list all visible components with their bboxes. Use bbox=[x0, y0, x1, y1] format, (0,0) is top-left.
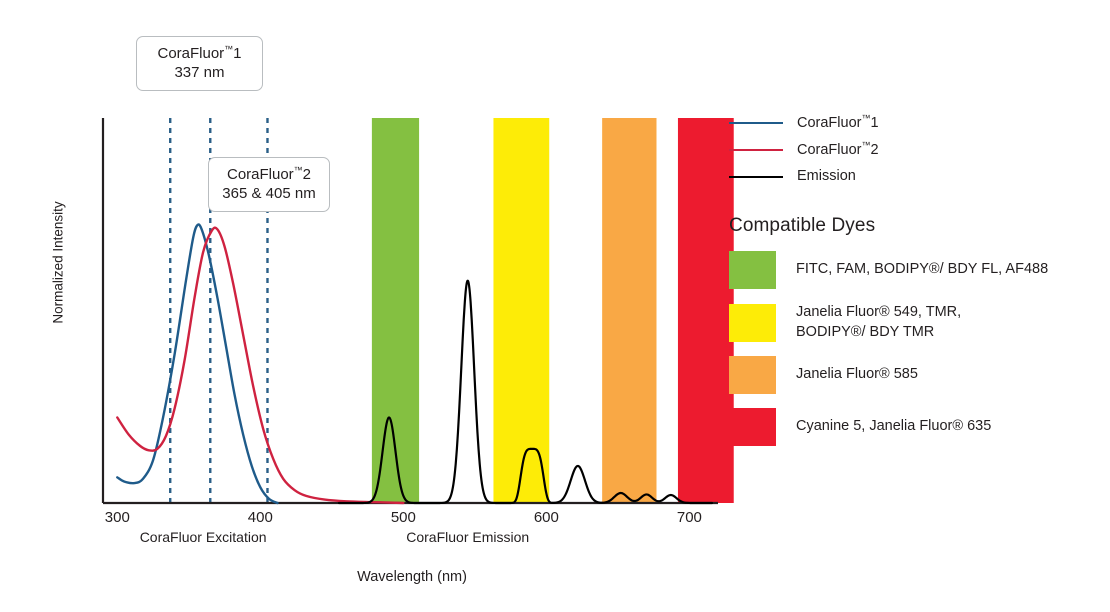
callout-corafluor1-line1: CoraFluor™1 bbox=[149, 44, 250, 63]
dye-row-4: Cyanine 5, Janelia Fluor® 635 bbox=[729, 408, 1099, 446]
trademark-symbol: ™ bbox=[861, 140, 870, 150]
dye-color-swatch bbox=[729, 408, 776, 446]
legend-item-label: CoraFluor™1 bbox=[797, 113, 879, 131]
callout-corafluor1-line2: 337 nm bbox=[149, 63, 250, 82]
y-axis-title: Normalized Intensity bbox=[51, 163, 66, 363]
axis-section-label-1: CoraFluor Excitation bbox=[140, 529, 267, 545]
x-tick-600: 600 bbox=[534, 509, 559, 526]
series-legend: CoraFluor™1CoraFluor™2Emission bbox=[729, 108, 1099, 189]
compatible-dyes-heading: Compatible Dyes bbox=[729, 215, 1099, 237]
orange-band bbox=[602, 118, 656, 503]
callout-corafluor2: CoraFluor™2 365 & 405 nm bbox=[208, 157, 330, 212]
x-tick-300: 300 bbox=[105, 509, 130, 526]
x-tick-500: 500 bbox=[391, 509, 416, 526]
dye-label: FITC, FAM, BODIPY®/ BDY FL, AF488 bbox=[796, 260, 1048, 280]
legend-item-2[interactable]: CoraFluor™2 bbox=[729, 135, 1099, 162]
dye-label: Cyanine 5, Janelia Fluor® 635 bbox=[796, 417, 991, 437]
x-tick-700: 700 bbox=[677, 509, 702, 526]
legend-item-label: CoraFluor™2 bbox=[797, 140, 879, 158]
axis-section-label-2: CoraFluor Emission bbox=[406, 529, 529, 545]
dye-label-line: BODIPY®/ BDY TMR bbox=[796, 323, 961, 343]
x-axis-title: Wavelength (nm) bbox=[357, 569, 467, 585]
callout-corafluor2-line2: 365 & 405 nm bbox=[221, 184, 317, 203]
compatible-dyes-list: FITC, FAM, BODIPY®/ BDY FL, AF488Janelia… bbox=[729, 251, 1099, 446]
dye-label-line: FITC, FAM, BODIPY®/ BDY FL, AF488 bbox=[796, 260, 1048, 280]
legend-item-label: Emission bbox=[797, 168, 856, 184]
dye-color-swatch bbox=[729, 356, 776, 394]
dye-label: Janelia Fluor® 549, TMR,BODIPY®/ BDY TMR bbox=[796, 303, 961, 342]
dye-color-swatch bbox=[729, 304, 776, 342]
dye-color-swatch bbox=[729, 251, 776, 289]
axis-section-labels-group: CoraFluor ExcitationCoraFluor Emission bbox=[140, 529, 529, 545]
x-tick-labels-group: 300400500600700 bbox=[105, 509, 702, 526]
wavelength-bands-group bbox=[372, 118, 734, 503]
chart-figure: 300400500600700 CoraFluor ExcitationCora… bbox=[0, 0, 1110, 612]
curve-corafluor1 bbox=[117, 224, 277, 503]
yellow-band bbox=[493, 118, 549, 503]
dye-row-2: Janelia Fluor® 549, TMR,BODIPY®/ BDY TMR bbox=[729, 303, 1099, 342]
legend-item-3[interactable]: Emission bbox=[729, 162, 1099, 189]
x-tick-400: 400 bbox=[248, 509, 273, 526]
legend-item-1[interactable]: CoraFluor™1 bbox=[729, 108, 1099, 135]
dye-label-line: Janelia Fluor® 549, TMR, bbox=[796, 303, 961, 323]
right-panel: CoraFluor™1CoraFluor™2Emission Compatibl… bbox=[729, 108, 1099, 446]
dye-label: Janelia Fluor® 585 bbox=[796, 365, 918, 385]
dye-label-line: Janelia Fluor® 585 bbox=[796, 365, 918, 385]
curve-corafluor2 bbox=[117, 228, 403, 503]
trademark-symbol: ™ bbox=[294, 165, 303, 175]
dye-row-3: Janelia Fluor® 585 bbox=[729, 356, 1099, 394]
callout-corafluor2-line1: CoraFluor™2 bbox=[221, 165, 317, 184]
callout-corafluor1: CoraFluor™1 337 nm bbox=[136, 36, 263, 91]
trademark-symbol: ™ bbox=[861, 113, 870, 123]
dye-label-line: Cyanine 5, Janelia Fluor® 635 bbox=[796, 417, 991, 437]
trademark-symbol: ™ bbox=[224, 44, 233, 54]
dye-row-1: FITC, FAM, BODIPY®/ BDY FL, AF488 bbox=[729, 251, 1099, 289]
red-band bbox=[678, 118, 734, 503]
